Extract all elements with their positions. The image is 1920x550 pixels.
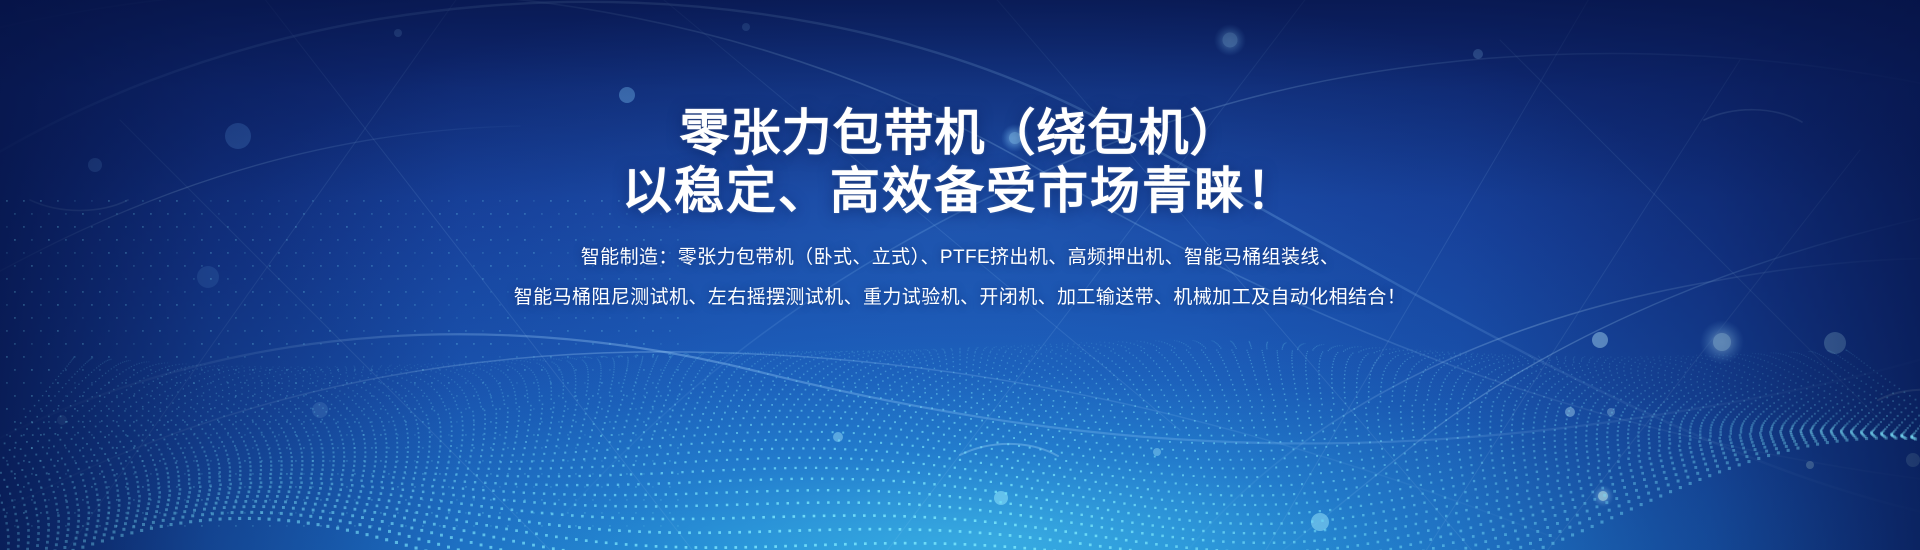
subtitle-line-1: 智能制造：零张力包带机（卧式、立式）、PTFE挤出机、高频押出机、智能马桶组装线… (514, 238, 1406, 278)
banner-subtitle: 智能制造：零张力包带机（卧式、立式）、PTFE挤出机、高频押出机、智能马桶组装线… (514, 238, 1406, 318)
promo-banner: 零张力包带机（绕包机） 以稳定、高效备受市场青睐！ 智能制造：零张力包带机（卧式… (0, 0, 1920, 550)
subtitle-line-2: 智能马桶阻尼测试机、左右摇摆测试机、重力试验机、开闭机、加工输送带、机械加工及自… (514, 278, 1406, 318)
banner-content: 零张力包带机（绕包机） 以稳定、高效备受市场青睐！ 智能制造：零张力包带机（卧式… (0, 0, 1920, 550)
headline-line-1: 零张力包带机（绕包机） (622, 104, 1298, 162)
banner-headline: 零张力包带机（绕包机） 以稳定、高效备受市场青睐！ (622, 104, 1298, 220)
headline-line-2: 以稳定、高效备受市场青睐！ (622, 162, 1298, 220)
